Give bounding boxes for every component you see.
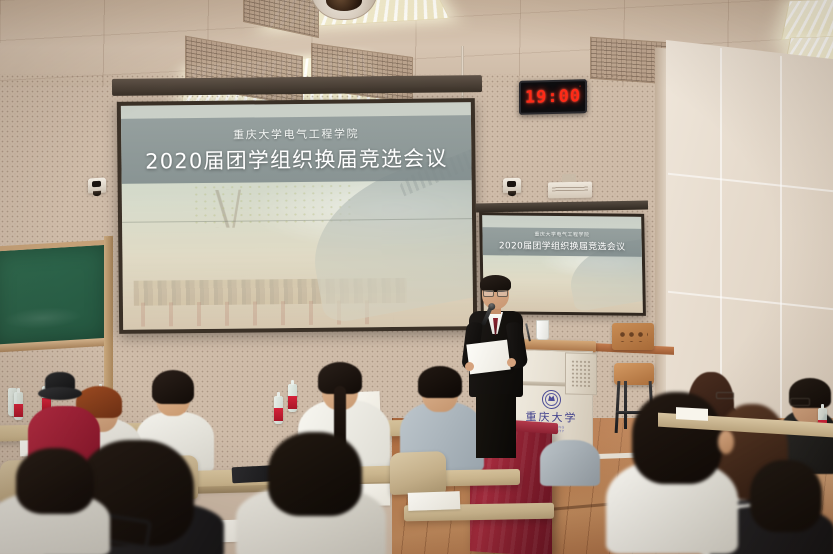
- student-hair: [632, 392, 722, 484]
- chalk-smudge: [3, 305, 82, 331]
- stool-backrest: [612, 323, 654, 350]
- wall-camera-right: [503, 178, 521, 193]
- stool-leg: [615, 381, 621, 433]
- slide-title: 2020届团学组织换届竞选会议: [145, 142, 448, 175]
- wall-seam: [780, 56, 782, 476]
- green-chalkboard: [0, 239, 112, 351]
- panel-paper: [676, 407, 708, 421]
- water-bottle: [14, 392, 23, 420]
- wall-speaker-right: [548, 182, 592, 199]
- wall-digital-clock: 19:00: [519, 79, 587, 115]
- presenter-trousers: [476, 394, 516, 458]
- ceiling-light-panel: [781, 0, 833, 40]
- university-seal-icon: [542, 390, 561, 410]
- slide-content: 重庆大学电气工程学院 2020届团学组织换届竞选会议: [121, 102, 473, 330]
- presenter-glasses: [483, 290, 508, 295]
- clock-time-display: 19:00: [525, 86, 581, 107]
- student-hair: [268, 432, 362, 516]
- presenter-hand-left: [465, 362, 474, 371]
- slide-background-photo: [122, 178, 474, 329]
- stool-leg: [624, 381, 627, 429]
- student-hair: [16, 448, 94, 514]
- secondary-slide-subtitle: 重庆大学电气工程学院: [534, 231, 589, 239]
- student-shoulders: [540, 440, 600, 486]
- auditorium-seat[interactable]: [390, 451, 446, 495]
- water-bottle: [274, 396, 283, 424]
- panelist-glasses: [790, 398, 810, 406]
- student-ear: [718, 430, 734, 454]
- hat-brim: [38, 387, 82, 400]
- student-hair: [418, 366, 462, 398]
- main-projection-screen[interactable]: 重庆大学电气工程学院 2020届团学组织换届竞选会议: [117, 98, 477, 334]
- clock-indicator-led: [579, 85, 581, 87]
- bucket-hat: [38, 372, 82, 402]
- presenter-hand-right: [507, 358, 516, 367]
- student-hair: [152, 370, 194, 404]
- wall-camera-left: [88, 178, 106, 194]
- panelist-head: [750, 460, 822, 532]
- secondary-slide-title-band: 重庆大学电气工程学院 2020届团学组织换届竞选会议: [482, 227, 642, 257]
- speaker-mount-bracket: [562, 174, 576, 182]
- secondary-slide-title: 2020届团学组织换届竞选会议: [499, 239, 626, 253]
- desk-paper: [408, 491, 461, 511]
- slide-subtitle: 重庆大学电气工程学院: [233, 125, 359, 142]
- panelist-glasses: [716, 392, 734, 399]
- paper-cup: [536, 320, 549, 340]
- presenter-at-podium: [462, 278, 528, 458]
- slide-title-band: 重庆大学电气工程学院 2020届团学组织换届竞选会议: [121, 116, 472, 185]
- lecture-hall-photo: 重庆大学电气工程学院 2020届团学组织换届竞选会议 19:00 重庆大学电气工…: [0, 0, 833, 554]
- water-bottle: [288, 384, 297, 412]
- podium-control-panel[interactable]: [565, 352, 597, 395]
